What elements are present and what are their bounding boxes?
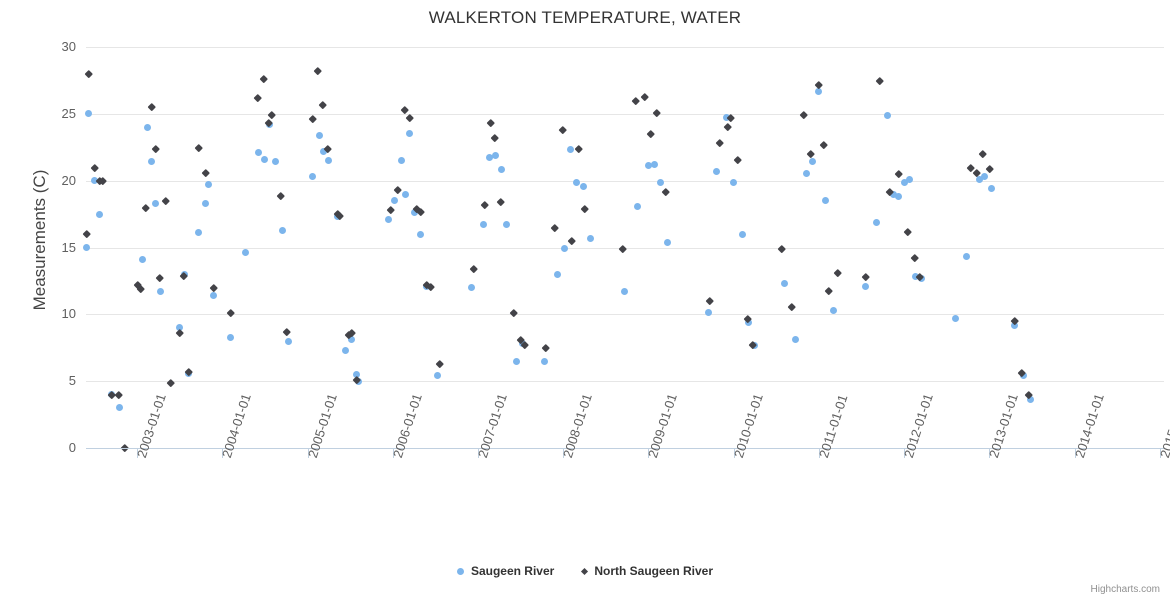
- data-point[interactable]: [809, 158, 816, 165]
- legend-item-north-saugeen-river[interactable]: North Saugeen River: [582, 563, 713, 578]
- data-point[interactable]: [1018, 369, 1026, 377]
- circle-marker-icon: [457, 568, 464, 575]
- data-point[interactable]: [743, 314, 751, 322]
- y-axis-tick-label: 30: [36, 39, 76, 54]
- data-point[interactable]: [497, 198, 505, 206]
- data-point[interactable]: [108, 391, 116, 399]
- data-point[interactable]: [645, 162, 652, 169]
- data-point[interactable]: [413, 205, 421, 213]
- data-point[interactable]: [873, 219, 880, 226]
- data-point[interactable]: [513, 358, 520, 365]
- data-point[interactable]: [423, 281, 431, 289]
- y-axis-tick-label: 10: [36, 306, 76, 321]
- data-point[interactable]: [632, 97, 640, 105]
- data-point[interactable]: [705, 309, 712, 316]
- data-point[interactable]: [906, 176, 913, 183]
- data-point[interactable]: [487, 119, 495, 127]
- data-point[interactable]: [554, 271, 561, 278]
- data-point[interactable]: [406, 130, 413, 137]
- legend-label: Saugeen River: [471, 564, 554, 578]
- data-point[interactable]: [820, 141, 828, 149]
- data-point[interactable]: [647, 130, 655, 138]
- data-point[interactable]: [815, 88, 822, 95]
- data-point[interactable]: [334, 210, 342, 218]
- data-point[interactable]: [716, 139, 724, 147]
- data-point[interactable]: [981, 173, 988, 180]
- data-point[interactable]: [1011, 322, 1018, 329]
- data-point[interactable]: [353, 371, 360, 378]
- data-point[interactable]: [575, 145, 583, 153]
- data-point[interactable]: [411, 209, 418, 216]
- data-point[interactable]: [803, 170, 810, 177]
- diamond-marker-icon: [581, 568, 588, 575]
- data-point[interactable]: [890, 191, 897, 198]
- data-point[interactable]: [242, 249, 249, 256]
- data-point[interactable]: [309, 115, 317, 123]
- data-point[interactable]: [619, 245, 627, 253]
- data-point[interactable]: [205, 181, 212, 188]
- data-point[interactable]: [904, 228, 912, 236]
- data-point[interactable]: [822, 197, 829, 204]
- data-point[interactable]: [862, 273, 870, 281]
- credits-link[interactable]: Highcharts.com: [1091, 584, 1160, 595]
- data-point[interactable]: [834, 269, 842, 277]
- data-point[interactable]: [963, 253, 970, 260]
- data-point[interactable]: [176, 329, 184, 337]
- data-point[interactable]: [745, 319, 752, 326]
- data-point[interactable]: [551, 224, 559, 232]
- data-point[interactable]: [830, 307, 837, 314]
- data-point[interactable]: [184, 368, 192, 376]
- data-point[interactable]: [210, 292, 217, 299]
- data-point[interactable]: [486, 154, 493, 161]
- data-point[interactable]: [739, 231, 746, 238]
- data-point[interactable]: [387, 206, 395, 214]
- data-point[interactable]: [167, 379, 175, 387]
- data-point[interactable]: [282, 328, 290, 336]
- data-point[interactable]: [788, 302, 796, 310]
- data-point[interactable]: [573, 179, 580, 186]
- data-point[interactable]: [662, 187, 670, 195]
- data-point[interactable]: [653, 109, 661, 117]
- data-point[interactable]: [272, 158, 279, 165]
- data-point[interactable]: [895, 193, 902, 200]
- data-point[interactable]: [195, 143, 203, 151]
- chart-legend: Saugeen RiverNorth Saugeen River: [0, 563, 1170, 578]
- data-point[interactable]: [142, 204, 150, 212]
- data-point[interactable]: [285, 338, 292, 345]
- data-point[interactable]: [713, 168, 720, 175]
- data-point[interactable]: [568, 237, 576, 245]
- data-point[interactable]: [862, 283, 869, 290]
- gridline: [86, 248, 1164, 249]
- gridline: [86, 181, 1164, 182]
- data-point[interactable]: [348, 329, 356, 337]
- data-point[interactable]: [137, 285, 145, 293]
- y-axis-tick-label: 15: [36, 240, 76, 255]
- data-point[interactable]: [587, 235, 594, 242]
- data-point[interactable]: [96, 211, 103, 218]
- y-axis-tick-labels: 051015202530: [30, 47, 76, 448]
- data-point[interactable]: [161, 197, 169, 205]
- data-point[interactable]: [268, 111, 276, 119]
- legend-item-saugeen-river[interactable]: Saugeen River: [457, 563, 554, 578]
- data-point[interactable]: [85, 70, 93, 78]
- data-point[interactable]: [521, 341, 529, 349]
- data-point[interactable]: [749, 341, 757, 349]
- data-point[interactable]: [152, 145, 160, 153]
- data-point[interactable]: [567, 146, 574, 153]
- data-point[interactable]: [952, 315, 959, 322]
- data-point[interactable]: [641, 93, 649, 101]
- data-point[interactable]: [886, 187, 894, 195]
- data-point[interactable]: [498, 166, 505, 173]
- data-point[interactable]: [895, 170, 903, 178]
- data-point[interactable]: [781, 280, 788, 287]
- data-point[interactable]: [517, 336, 525, 344]
- data-point[interactable]: [434, 372, 441, 379]
- data-point[interactable]: [1025, 391, 1033, 399]
- data-point[interactable]: [706, 297, 714, 305]
- data-point[interactable]: [144, 124, 151, 131]
- data-point[interactable]: [581, 205, 589, 213]
- data-point[interactable]: [916, 273, 924, 281]
- data-point[interactable]: [345, 330, 353, 338]
- data-point[interactable]: [266, 121, 273, 128]
- data-point[interactable]: [202, 200, 209, 207]
- data-point[interactable]: [470, 265, 478, 273]
- data-point[interactable]: [255, 149, 262, 156]
- data-point[interactable]: [176, 324, 183, 331]
- data-point[interactable]: [664, 239, 671, 246]
- data-point[interactable]: [800, 111, 808, 119]
- legend-label: North Saugeen River: [594, 564, 713, 578]
- data-point[interactable]: [559, 126, 567, 134]
- data-point[interactable]: [730, 179, 737, 186]
- data-point[interactable]: [468, 284, 475, 291]
- data-point[interactable]: [985, 165, 993, 173]
- data-point[interactable]: [979, 150, 987, 158]
- data-point[interactable]: [334, 213, 341, 220]
- data-point[interactable]: [139, 256, 146, 263]
- data-point[interactable]: [561, 245, 568, 252]
- data-point[interactable]: [436, 360, 444, 368]
- gridline: [86, 47, 1164, 48]
- data-point[interactable]: [417, 208, 425, 216]
- data-point[interactable]: [261, 156, 268, 163]
- data-point[interactable]: [210, 284, 218, 292]
- data-point[interactable]: [912, 273, 919, 280]
- data-point[interactable]: [91, 163, 99, 171]
- data-point[interactable]: [201, 169, 209, 177]
- data-point[interactable]: [353, 376, 361, 384]
- data-point[interactable]: [778, 245, 786, 253]
- data-point[interactable]: [325, 157, 332, 164]
- data-point[interactable]: [314, 67, 322, 75]
- data-point[interactable]: [481, 201, 489, 209]
- gridline: [86, 114, 1164, 115]
- y-axis-tick-label: 0: [36, 440, 76, 455]
- data-point[interactable]: [406, 114, 414, 122]
- data-point[interactable]: [967, 163, 975, 171]
- data-point[interactable]: [825, 286, 833, 294]
- data-point[interactable]: [910, 254, 918, 262]
- data-point[interactable]: [751, 342, 758, 349]
- data-point[interactable]: [480, 221, 487, 228]
- y-axis-tick-label: 25: [36, 106, 76, 121]
- data-point[interactable]: [621, 288, 628, 295]
- data-point[interactable]: [651, 161, 658, 168]
- chart-title: WALKERTON TEMPERATURE, WATER: [0, 8, 1170, 28]
- data-point[interactable]: [723, 114, 730, 121]
- data-point[interactable]: [348, 336, 355, 343]
- data-point[interactable]: [815, 81, 823, 89]
- gridline: [86, 381, 1164, 382]
- data-point[interactable]: [492, 152, 499, 159]
- data-point[interactable]: [319, 101, 327, 109]
- data-point[interactable]: [394, 186, 402, 194]
- data-point[interactable]: [83, 230, 91, 238]
- data-point[interactable]: [884, 112, 891, 119]
- data-point[interactable]: [264, 119, 272, 127]
- data-point[interactable]: [181, 271, 188, 278]
- data-point[interactable]: [108, 391, 115, 398]
- data-point[interactable]: [542, 344, 550, 352]
- data-point[interactable]: [227, 334, 234, 341]
- data-point[interactable]: [1020, 372, 1027, 379]
- data-point[interactable]: [279, 227, 286, 234]
- data-point[interactable]: [973, 169, 981, 177]
- data-point[interactable]: [976, 176, 983, 183]
- data-point[interactable]: [417, 231, 424, 238]
- y-axis-tick-label: 5: [36, 373, 76, 388]
- data-point[interactable]: [734, 155, 742, 163]
- data-point[interactable]: [336, 212, 344, 220]
- data-point[interactable]: [792, 336, 799, 343]
- data-point[interactable]: [309, 173, 316, 180]
- data-point[interactable]: [259, 75, 267, 83]
- data-point[interactable]: [519, 340, 526, 347]
- data-point[interactable]: [152, 200, 159, 207]
- data-point[interactable]: [423, 283, 430, 290]
- data-point[interactable]: [727, 114, 735, 122]
- data-point[interactable]: [398, 157, 405, 164]
- data-point[interactable]: [1027, 396, 1034, 403]
- data-point[interactable]: [180, 272, 188, 280]
- data-point[interactable]: [195, 229, 202, 236]
- data-point[interactable]: [901, 179, 908, 186]
- data-point[interactable]: [503, 221, 510, 228]
- data-point[interactable]: [115, 391, 123, 399]
- data-point[interactable]: [134, 281, 142, 289]
- data-point[interactable]: [324, 145, 332, 153]
- data-point[interactable]: [426, 282, 434, 290]
- data-point[interactable]: [634, 203, 641, 210]
- data-point[interactable]: [148, 103, 156, 111]
- data-point[interactable]: [342, 347, 349, 354]
- data-point[interactable]: [401, 106, 409, 114]
- data-point[interactable]: [385, 216, 392, 223]
- data-point[interactable]: [185, 370, 192, 377]
- data-point[interactable]: [402, 191, 409, 198]
- data-point[interactable]: [320, 148, 327, 155]
- data-point[interactable]: [876, 77, 884, 85]
- data-point[interactable]: [806, 150, 814, 158]
- data-point[interactable]: [227, 309, 235, 317]
- data-point[interactable]: [157, 288, 164, 295]
- data-point[interactable]: [491, 134, 499, 142]
- data-point[interactable]: [1011, 317, 1019, 325]
- data-point[interactable]: [391, 197, 398, 204]
- data-point[interactable]: [510, 309, 518, 317]
- data-point[interactable]: [148, 158, 155, 165]
- data-point[interactable]: [116, 404, 123, 411]
- data-point[interactable]: [918, 275, 925, 282]
- plot-area: [86, 47, 1164, 448]
- data-point[interactable]: [580, 183, 587, 190]
- data-point[interactable]: [988, 185, 995, 192]
- data-point[interactable]: [316, 132, 323, 139]
- chart-container: WALKERTON TEMPERATURE, WATER Measurement…: [0, 0, 1170, 600]
- data-point[interactable]: [156, 274, 164, 282]
- data-point[interactable]: [541, 358, 548, 365]
- data-point[interactable]: [724, 123, 732, 131]
- data-point[interactable]: [276, 191, 284, 199]
- gridline: [86, 314, 1164, 315]
- data-point[interactable]: [657, 179, 664, 186]
- y-axis-tick-label: 20: [36, 173, 76, 188]
- data-point[interactable]: [254, 94, 262, 102]
